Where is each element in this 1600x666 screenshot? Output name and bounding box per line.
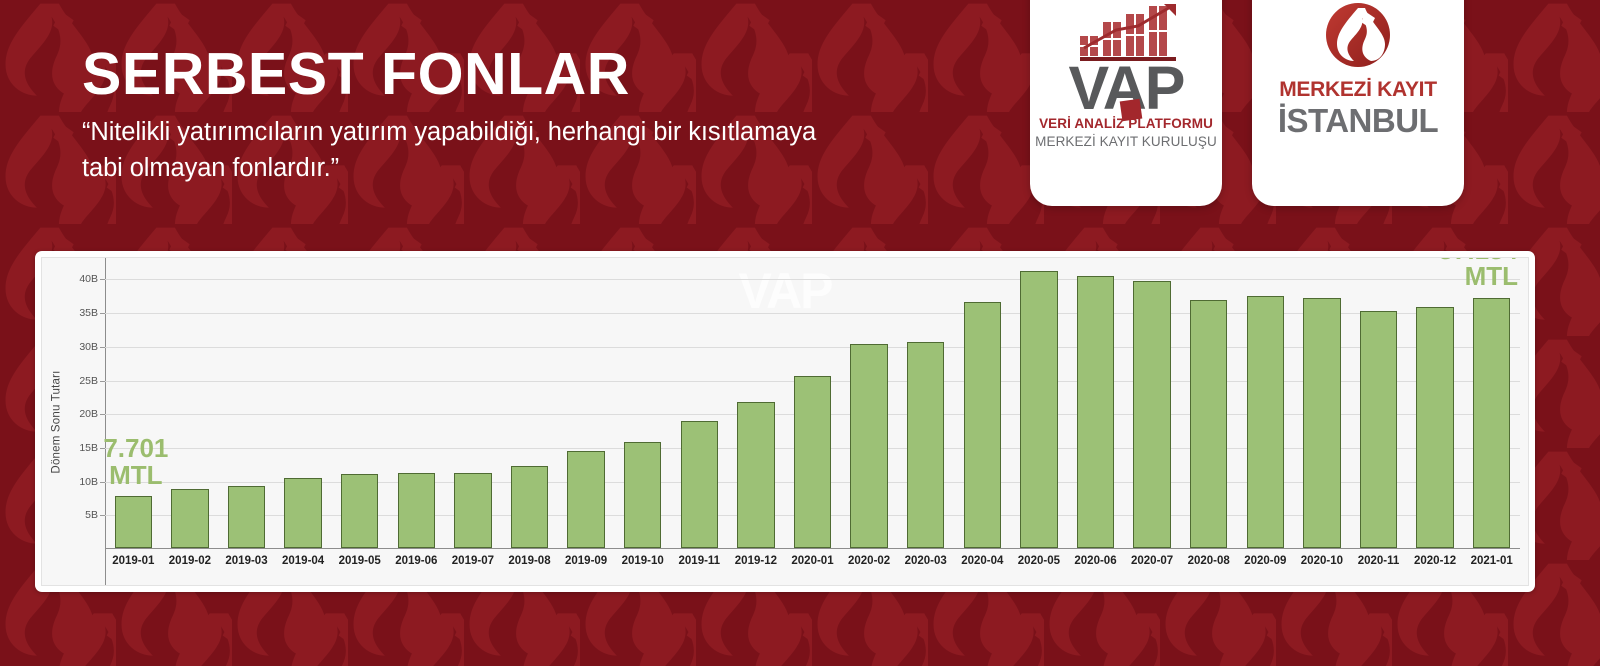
plot-frame: VAP Dönem Sonu Tutarı 5B10B15B20B25B30B3…: [41, 257, 1529, 586]
x-axis-tick-label: 2019-07: [452, 555, 494, 567]
plot-area: 5B10B15B20B25B30B35B40B 2019-012019-0220…: [105, 266, 1520, 549]
x-axis-tick-label: 2019-12: [735, 555, 777, 567]
bar[interactable]: [1020, 271, 1057, 548]
y-axis-tick-label: 30B: [79, 341, 98, 353]
x-axis-tick-label: 2020-05: [1018, 555, 1060, 567]
y-axis-title-text: Dönem Sonu Tutarı: [51, 370, 63, 473]
bar[interactable]: [454, 473, 491, 548]
mkk-logo: MERKEZİ KAYIT İSTANBUL: [1252, 0, 1464, 206]
x-axis-tick-label: 2019-04: [282, 555, 324, 567]
annotation-last-value-number: 37.134: [1438, 257, 1518, 263]
x-axis-tick-label: 2019-06: [395, 555, 437, 567]
header: SERBEST FONLAR “Nitelikli yatırımcıların…: [0, 0, 1600, 250]
x-axis-tick-label: 2020-01: [791, 555, 833, 567]
bar[interactable]: [1077, 276, 1114, 548]
bar[interactable]: [284, 478, 321, 548]
bar[interactable]: [567, 451, 604, 548]
bar[interactable]: [907, 342, 944, 548]
bar[interactable]: [1303, 298, 1340, 548]
bar[interactable]: [681, 421, 718, 548]
bar[interactable]: [115, 496, 152, 548]
bar[interactable]: [1190, 300, 1227, 548]
y-axis-tick-label: 15B: [79, 442, 98, 454]
x-axis-tick-label: 2020-03: [905, 555, 947, 567]
x-axis-tick-label: 2020-06: [1074, 555, 1116, 567]
x-axis-tick-label: 2019-08: [508, 555, 550, 567]
vap-subtagline: MERKEZİ KAYIT KURULUŞU: [1030, 134, 1222, 149]
bar[interactable]: [964, 302, 1001, 548]
x-axis-tick-label: 2019-01: [112, 555, 154, 567]
vap-tagline: VERİ ANALİZ PLATFORMU: [1030, 116, 1222, 131]
x-axis-tick-label: 2020-08: [1188, 555, 1230, 567]
bar[interactable]: [1473, 298, 1510, 548]
mkk-flame-circle-icon: [1325, 2, 1391, 68]
x-axis-tick-label: 2020-10: [1301, 555, 1343, 567]
y-axis-tick-label: 25B: [79, 375, 98, 387]
x-axis-tick-label: 2019-05: [339, 555, 381, 567]
vap-logo: VAP VERİ ANALİZ PLATFORMU MERKEZİ KAYIT …: [1030, 0, 1222, 206]
bar[interactable]: [341, 474, 378, 548]
y-axis-tick-label: 35B: [79, 307, 98, 319]
x-axis-tick-label: 2019-09: [565, 555, 607, 567]
bar[interactable]: [1416, 307, 1453, 548]
bar[interactable]: [737, 402, 774, 548]
x-axis-tick-label: 2019-10: [622, 555, 664, 567]
x-axis-tick-label: 2020-02: [848, 555, 890, 567]
bar[interactable]: [228, 486, 265, 548]
bar-series: [105, 266, 1520, 549]
mkk-line2: İSTANBUL: [1252, 102, 1464, 140]
y-axis-title: Dönem Sonu Tutarı: [48, 258, 66, 585]
x-axis-tick-label: 2020-09: [1244, 555, 1286, 567]
bar[interactable]: [850, 344, 887, 548]
x-axis-tick-label: 2020-12: [1414, 555, 1456, 567]
x-axis-tick-label: 2019-02: [169, 555, 211, 567]
y-axis-tick-label: 20B: [79, 408, 98, 420]
chart-panel: VAP Dönem Sonu Tutarı 5B10B15B20B25B30B3…: [35, 251, 1535, 592]
x-axis-tick-label: 2020-11: [1358, 555, 1400, 567]
bar[interactable]: [171, 489, 208, 548]
x-axis-tick-label: 2020-07: [1131, 555, 1173, 567]
y-axis-tick-label: 5B: [85, 509, 98, 521]
x-axis-tick-label: 2019-11: [679, 555, 721, 567]
bar[interactable]: [1360, 311, 1397, 548]
page-title: SERBEST FONLAR: [82, 44, 852, 105]
bar[interactable]: [1133, 281, 1170, 549]
x-axis-tick-label: 2020-04: [961, 555, 1003, 567]
bar[interactable]: [398, 473, 435, 548]
y-axis-tick-label: 10B: [79, 476, 98, 488]
mkk-line1: MERKEZİ KAYIT: [1252, 78, 1464, 102]
bar[interactable]: [624, 442, 661, 548]
page-subtitle: “Nitelikli yatırımcıların yatırım yapabi…: [82, 115, 852, 185]
y-axis-tick-label: 40B: [79, 273, 98, 285]
bar[interactable]: [1247, 296, 1284, 548]
title-block: SERBEST FONLAR “Nitelikli yatırımcıların…: [82, 44, 852, 186]
x-axis-tick-label: 2019-03: [225, 555, 267, 567]
bar[interactable]: [794, 376, 831, 548]
bar[interactable]: [511, 466, 548, 548]
x-axis-tick-label: 2021-01: [1471, 555, 1513, 567]
